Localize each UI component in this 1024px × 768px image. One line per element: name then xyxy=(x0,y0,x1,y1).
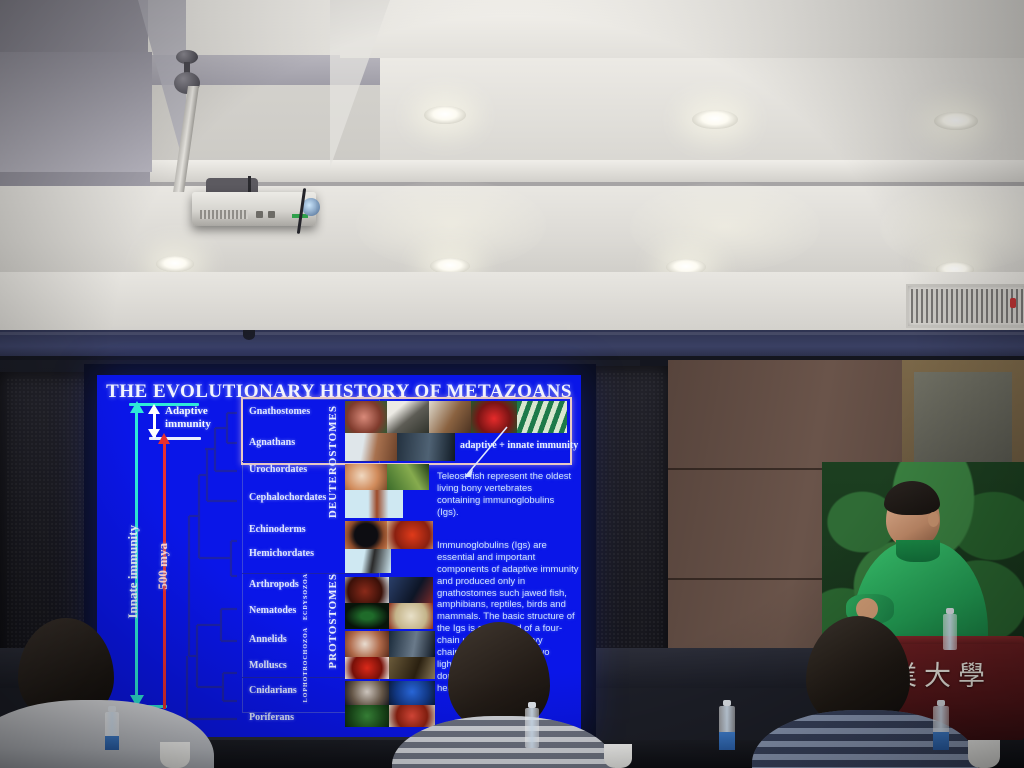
hvac-indicator xyxy=(1010,298,1016,308)
thumb-sponge-red xyxy=(389,705,435,727)
note1-line-0: Teleost fish represent the oldest xyxy=(437,471,581,483)
bottle-podium xyxy=(942,608,958,650)
speaker-mesh-icon-2 xyxy=(592,372,664,680)
ceiling-sensor xyxy=(243,330,255,340)
thumb-amphioxus xyxy=(345,490,403,518)
thumb-octopus xyxy=(389,657,435,679)
taxon-label-1: Agnathans xyxy=(249,437,295,448)
bottle-label-right-b xyxy=(933,732,949,750)
thumb-nematode-light xyxy=(389,603,433,629)
band-highlight xyxy=(0,332,1024,335)
light-pool-1 xyxy=(356,180,546,270)
projector-lens xyxy=(302,198,320,216)
wall-speaker-panel-right xyxy=(586,366,670,686)
bottle-label-left xyxy=(105,736,119,750)
thumb-acorn-worm xyxy=(345,549,391,573)
hvac-louvers-icon xyxy=(911,289,1023,323)
note-teleost: Teleost fish represent the oldest living… xyxy=(437,471,581,519)
note2-line-1: essential and important xyxy=(437,552,581,564)
taxon-label-7: Nematodes xyxy=(249,605,296,616)
innate-immunity-label: Innate immunity xyxy=(125,525,141,619)
downlight-4 xyxy=(156,256,194,272)
adaptive-arrow-head-down xyxy=(148,429,160,439)
thumb-beetle xyxy=(345,577,389,603)
thumb-snail xyxy=(345,657,389,679)
thumb-sponge-green xyxy=(345,705,389,727)
projector xyxy=(192,192,316,226)
thumb-jellyfish-b xyxy=(389,681,435,705)
note2-line-2: components of adaptive immunity xyxy=(437,564,581,576)
ceiling-soffit-left xyxy=(0,52,152,172)
taxon-label-9: Molluscs xyxy=(249,660,287,671)
taxon-label-11: Poriferans xyxy=(249,712,294,723)
thumb-jellyfish-a xyxy=(345,681,389,705)
note1-line-3: (Igs). xyxy=(437,507,581,519)
bottle-body xyxy=(943,614,957,650)
cup-right xyxy=(968,740,1000,768)
note2-line-4: gnathostomes such jawed fish, xyxy=(437,588,581,600)
note2-line-0: Immunoglobulins (Igs) are xyxy=(437,540,581,552)
thumb-fly xyxy=(389,577,433,603)
cup-center xyxy=(604,744,632,768)
light-pool-2 xyxy=(630,182,820,272)
thumb-fish xyxy=(517,401,567,433)
group-label-ecdysozoa: ECDYSOZOA xyxy=(303,573,309,620)
projector-vent xyxy=(200,210,248,219)
ceiling-panel-b xyxy=(340,0,1024,58)
downlight-1 xyxy=(424,106,466,124)
bottle-left xyxy=(104,706,120,750)
thumb-eagle xyxy=(387,401,429,433)
projector-button-a xyxy=(256,211,263,218)
air-conditioning-grille xyxy=(906,284,1024,328)
thumb-primate xyxy=(345,401,387,433)
downlight-2 xyxy=(692,110,738,129)
group-label-deuterostomes: DEUTEROSTOMES xyxy=(327,405,339,518)
thumb-seaweed-tunicate xyxy=(387,464,429,490)
presenter-ear xyxy=(928,512,939,527)
taxon-label-2: Urochordates xyxy=(249,464,307,475)
bottle-label-right-a xyxy=(719,732,735,750)
time-axis-label: 500 mya xyxy=(155,543,171,590)
projector-button-b xyxy=(268,211,275,218)
bottle-body-center xyxy=(525,708,539,748)
innate-arrow-head-up xyxy=(130,401,144,413)
group-label-lophotrochozoa: LOPHOTROCHOZOA xyxy=(303,627,309,702)
note1-line-1: living bony vertebrates xyxy=(437,483,581,495)
bottle-right-b xyxy=(932,700,950,750)
note1-line-2: containing immunoglobulins xyxy=(437,495,581,507)
note2-line-6: mammals. The basic structure of xyxy=(437,611,581,623)
group-label-protostomes: PROTOSTOMES xyxy=(327,573,339,669)
ceiling-coffer-edge-right xyxy=(330,0,390,168)
bottle-center xyxy=(524,702,540,748)
taxa-sep-2 xyxy=(242,573,378,574)
taxon-label-8: Annelids xyxy=(249,634,287,645)
taxon-label-10: Cnidarians xyxy=(249,685,297,696)
note2-line-5: amphibians, reptiles, birds and xyxy=(437,599,581,611)
presenter-collar xyxy=(896,540,940,562)
taxa-sep-1 xyxy=(242,461,378,462)
thumb-sea-urchin xyxy=(345,521,387,549)
thumb-nematode-dark xyxy=(345,603,389,629)
note2-line-3: and produced only in xyxy=(437,576,581,588)
taxon-label-6: Arthropods xyxy=(249,579,299,590)
thumb-hagfish xyxy=(345,433,397,461)
taxon-label-5: Hemichordates xyxy=(249,548,314,559)
cladogram xyxy=(185,401,245,731)
thumb-tunicate xyxy=(345,464,387,490)
upper-wall xyxy=(0,272,1024,334)
taxon-label-4: Echinoderms xyxy=(249,524,306,535)
thumb-earthworm xyxy=(345,631,389,657)
adaptive-arrow-head-up xyxy=(148,404,160,414)
cup-left xyxy=(160,742,190,768)
bottle-right-a xyxy=(718,700,736,750)
thumb-polychaete xyxy=(389,631,435,657)
taxon-label-0: Gnathostomes xyxy=(249,406,310,417)
taxon-label-3: Cephalochordates xyxy=(249,492,326,503)
thumb-starfish xyxy=(387,521,433,549)
lecture-hall-photo: THE EVOLUTIONARY HISTORY OF METAZOANS In… xyxy=(0,0,1024,768)
downlight-3 xyxy=(934,112,978,130)
